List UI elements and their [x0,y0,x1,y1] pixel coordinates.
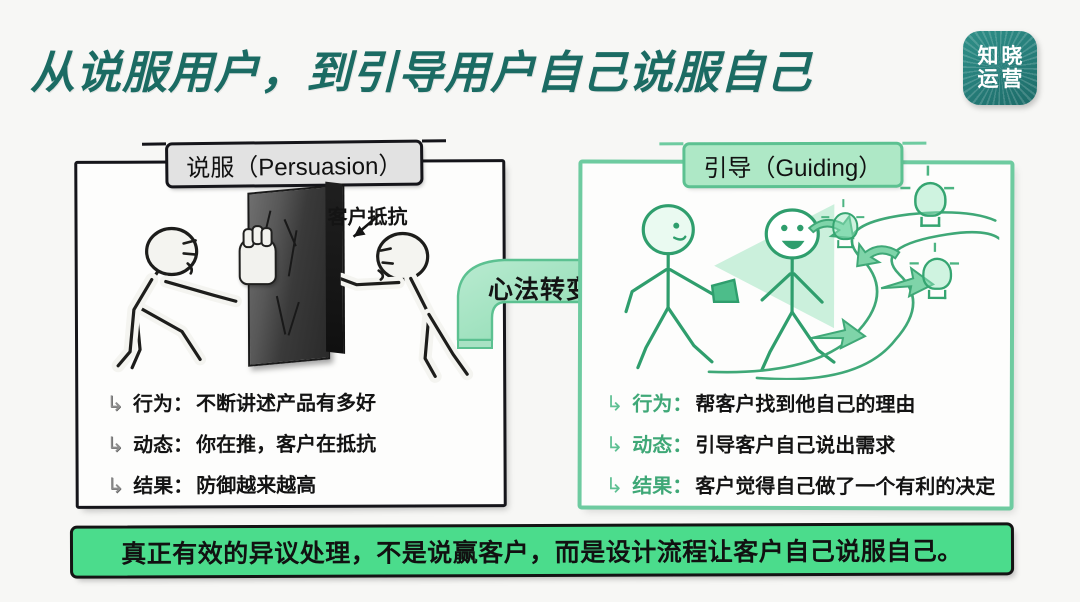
transition-label: 心法转变 [488,270,592,306]
persuasion-panel-header: 说服（Persuasion） [165,140,424,189]
page-title: 从说服用户，到引导用户自己说服自己 [30,36,812,101]
arrow-bullet-icon: ↳ [606,476,624,497]
lightbulb-icon [922,258,952,299]
list-item: ↳ 行为： 帮客户找到他自己的理由 [606,388,996,418]
bullet-text: 防御越来越高 [196,469,316,499]
list-item: ↳ 结果： 客户觉得自己做了一个有利的决定 [606,470,996,500]
bullet-text: 不断讲述产品有多好 [196,387,376,417]
stick-figure-seller [95,209,246,390]
logo-line-2: 运营 [975,69,1026,91]
bullet-text: 引导客户自己说出需求 [695,429,895,459]
bullet-label: 动态： [133,428,193,457]
list-item: ↳ 行为： 不断讲述产品有多好 [106,387,376,417]
logo-line-1: 知晓 [975,46,1026,68]
summary-banner-text: 真正有效的异议处理，不是说赢客户，而是设计流程让客户自己说服自己。 [121,531,963,570]
guiding-panel-title: 引导（Guiding） [703,147,882,182]
header-stub-right [902,142,926,145]
summary-banner: 真正有效的异议处理，不是说赢客户，而是设计流程让客户自己说服自己。 [70,522,1014,578]
header-stub-left [659,142,683,145]
bullet-label: 行为： [133,387,193,416]
list-item: ↳ 动态： 引导客户自己说出需求 [606,429,996,459]
guiding-illustration [594,181,1000,382]
header-stub-left [142,142,166,145]
persuasion-illustration: 客户抵抗 [95,184,486,381]
bullet-label: 结果： [632,470,692,499]
bullet-text: 帮客户找到他自己的理由 [695,388,915,418]
bullet-label: 动态： [632,429,692,458]
bullet-text: 客户觉得自己做了一个有利的决定 [695,470,995,500]
list-item: ↳ 结果： 防御越来越高 [107,469,377,499]
header-stub-right [422,139,446,142]
bullet-label: 结果： [133,469,193,498]
arrow-bullet-icon: ↳ [606,394,624,415]
bullet-label: 行为： [632,388,692,417]
brand-logo: 知晓 运营 [963,31,1037,105]
arrow-bullet-icon: ↳ [106,394,124,415]
lightbulb-icon [832,212,858,248]
list-item: ↳ 动态： 你在推，客户在抵抗 [106,428,376,458]
slide-canvas: 从说服用户，到引导用户自己说服自己 知晓 运营 说服（Persuasion） [0,0,1080,602]
persuasion-panel-title: 说服（Persuasion） [186,145,402,182]
pressing-hand [239,237,277,285]
arrow-bullet-icon: ↳ [606,435,624,456]
persuasion-bullet-list: ↳ 行为： 不断讲述产品有多好 ↳ 动态： 你在推，客户在抵抗 ↳ 结果： 防御… [106,387,376,499]
arrow-bullet-icon: ↳ [107,476,125,497]
guiding-panel: 引导（Guiding） [578,159,1015,510]
guiding-bullet-list: ↳ 行为： 帮客户找到他自己的理由 ↳ 动态： 引导客户自己说出需求 ↳ 结果：… [606,388,996,500]
lightbulb-icon [914,182,947,227]
bullet-text: 你在推，客户在抵抗 [196,428,376,458]
persuasion-panel: 说服（Persuasion） [74,159,507,509]
arrow-bullet-icon: ↳ [106,435,124,456]
resistance-annotation: 客户抵抗 [327,200,407,229]
